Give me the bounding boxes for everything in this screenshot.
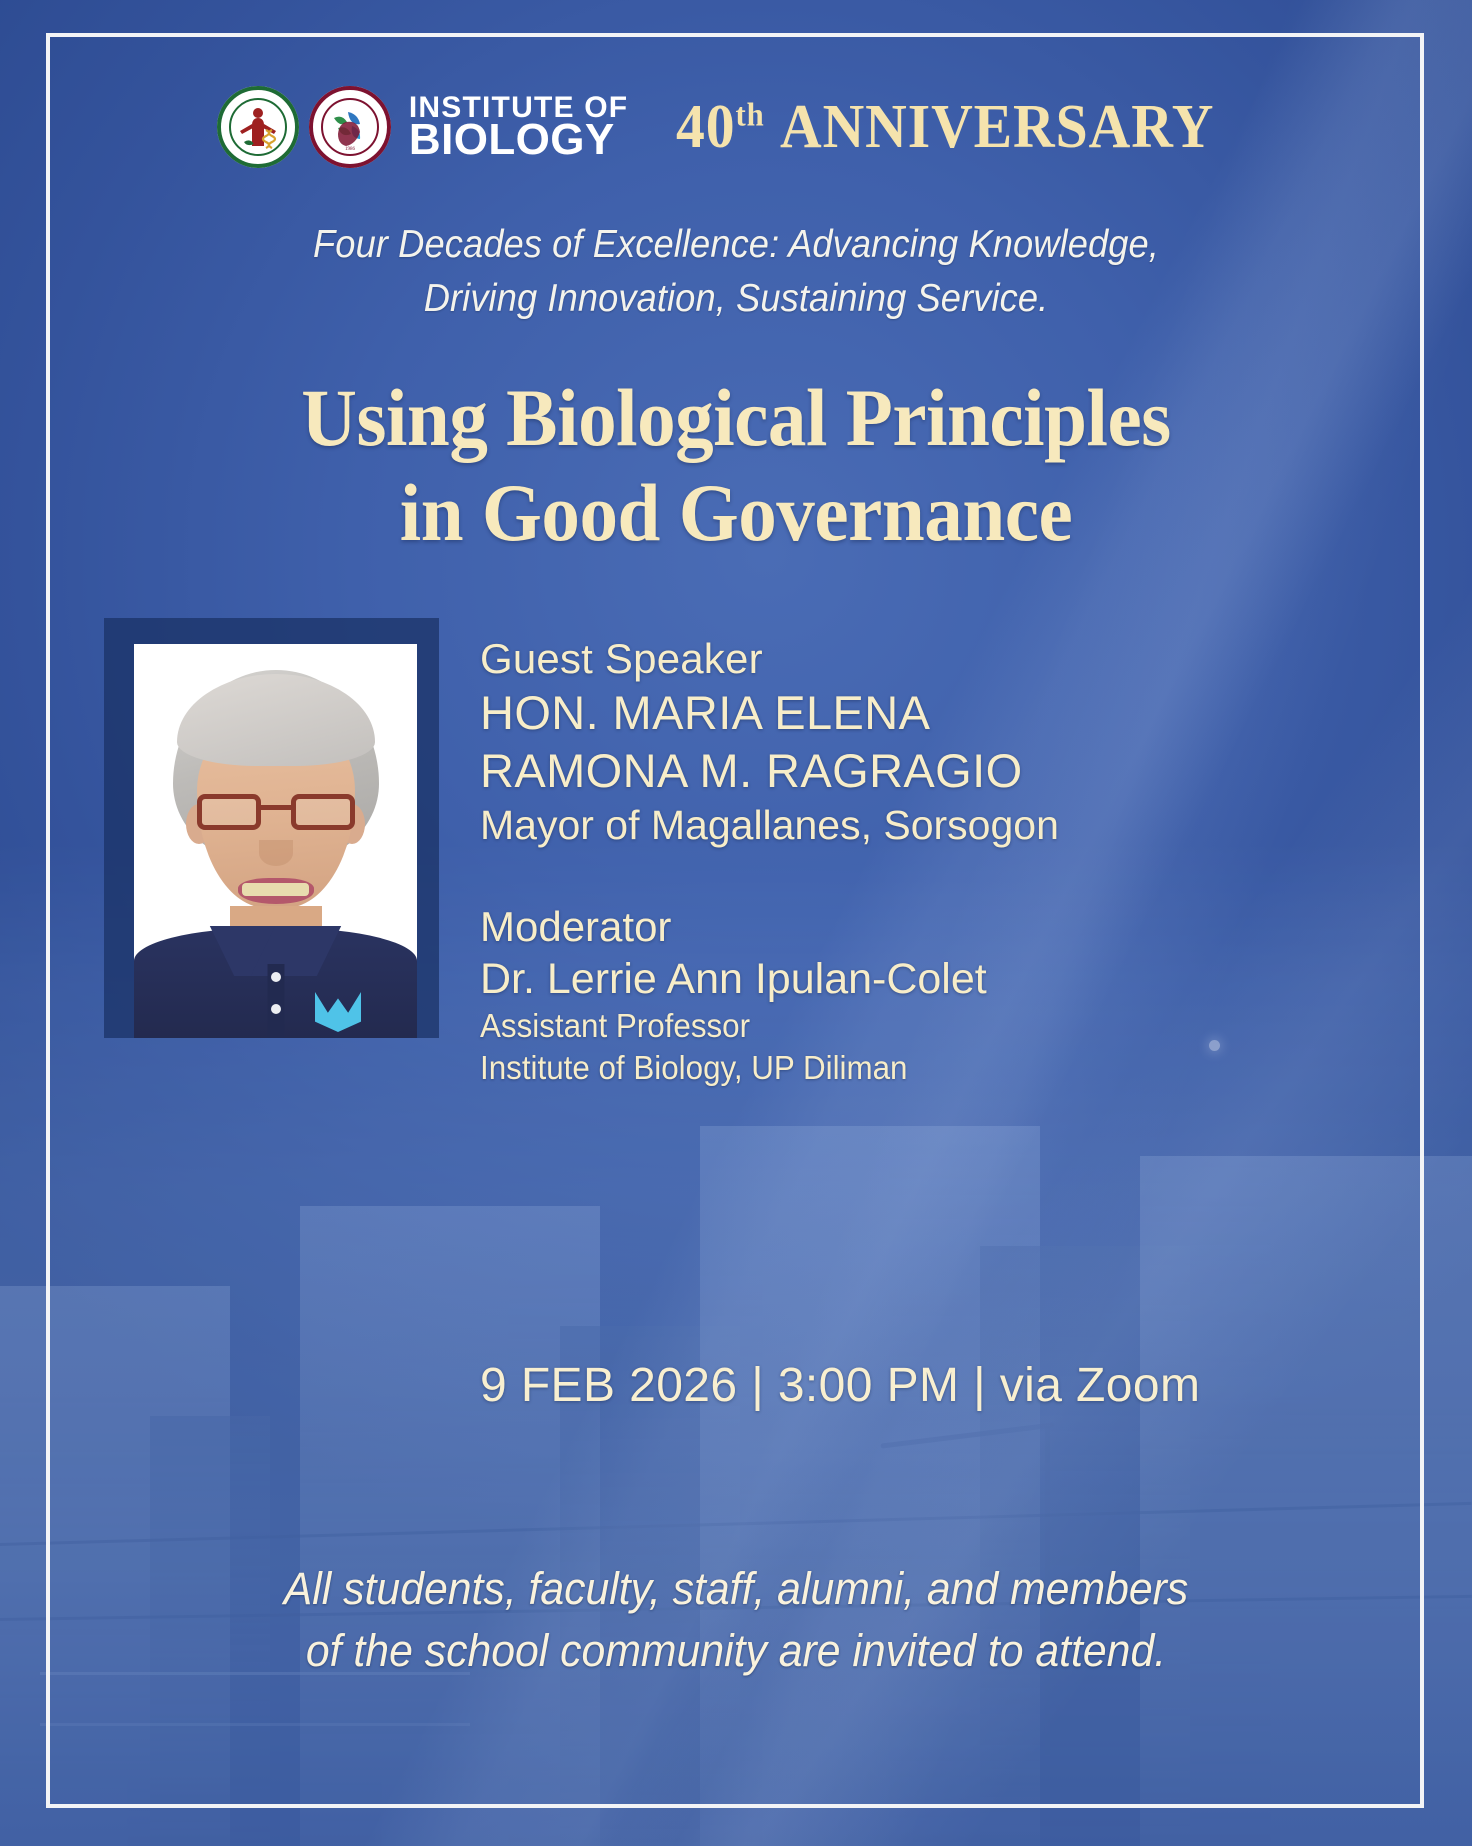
anniversary-word: ANNIVERSARY (780, 93, 1214, 161)
invitation-line-1: All students, faculty, staff, alumni, an… (37, 1558, 1435, 1620)
speaker-photo (134, 644, 417, 1038)
eyeglasses-icon (193, 794, 359, 832)
moderator-name: Dr. Lerrie Ann Ipulan-Colet (480, 954, 1380, 1006)
tagline-line-1: Four Decades of Excellence: Advancing Kn… (52, 218, 1421, 272)
ib-emblem-icon: 1986 (328, 106, 372, 152)
institute-name-line2: BIOLOGY (409, 121, 628, 159)
alumni-association-seal-icon: 1992 (217, 86, 299, 168)
invitation-line-2: of the school community are invited to a… (37, 1620, 1435, 1682)
guest-speaker-label: Guest Speaker (480, 634, 1380, 684)
anniversary-heading: 40th ANNIVERSARY (676, 92, 1214, 163)
event-schedule: 9 FEB 2026 | 3:00 PM | via Zoom (480, 1358, 1200, 1413)
poster-header: 1992 1986 INSTITU (0, 86, 1472, 168)
guest-speaker-name-1: HON. MARIA ELENA (480, 685, 1380, 741)
anniversary-tagline: Four Decades of Excellence: Advancing Kn… (52, 218, 1421, 326)
event-title-line-1: Using Biological Principles (44, 370, 1428, 465)
invitation-text: All students, faculty, staff, alumni, an… (37, 1558, 1435, 1682)
event-details: Guest Speaker HON. MARIA ELENA RAMONA M.… (480, 634, 1380, 1089)
event-poster: 1992 1986 INSTITU (0, 0, 1472, 1846)
moderator-label: Moderator (480, 902, 1380, 952)
logo-group: 1992 1986 (217, 86, 391, 168)
institute-of-biology-seal-icon: 1986 (309, 86, 391, 168)
event-title-line-2: in Good Governance (44, 465, 1428, 560)
anniversary-ordinal: th (736, 97, 765, 133)
event-title: Using Biological Principles in Good Gove… (44, 370, 1428, 560)
alumni-figure-icon: 1992 (236, 106, 280, 152)
svg-text:1986: 1986 (345, 147, 356, 152)
moderator-position: Assistant Professor (480, 1005, 1335, 1047)
guest-speaker-name-2: RAMONA M. RAGRAGIO (480, 743, 1380, 799)
speaker-photo-frame (104, 618, 439, 1038)
svg-text:1992: 1992 (252, 142, 264, 148)
details-spacer (480, 850, 1380, 902)
institute-name: INSTITUTE OF BIOLOGY (409, 95, 628, 160)
tagline-line-2: Driving Innovation, Sustaining Service. (52, 272, 1421, 326)
moderator-affiliation: Institute of Biology, UP Diliman (480, 1047, 1335, 1089)
anniversary-number: 40 (676, 93, 736, 161)
guest-speaker-role: Mayor of Magallanes, Sorsogon (480, 801, 1380, 850)
